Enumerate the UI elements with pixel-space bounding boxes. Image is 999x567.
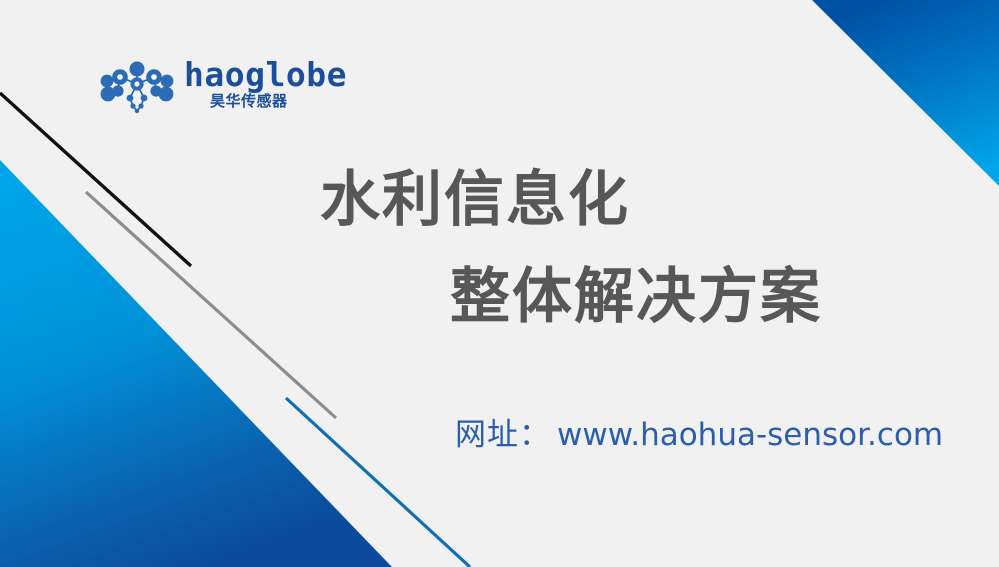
slide-title: 水利信息化 整体解决方案 <box>0 160 999 350</box>
accent-line-blue <box>286 398 470 567</box>
title-line-2: 整体解决方案 <box>450 267 822 327</box>
logo-text-group: haoglobe 昊华传感器 <box>184 58 324 118</box>
molecule-network-icon <box>96 60 178 116</box>
website-url[interactable]: www.haohua-sensor.com <box>557 417 943 453</box>
logo-chinese-name: 昊华传感器 <box>210 94 288 109</box>
title-line-1: 水利信息化 <box>320 170 630 230</box>
website-label: 网址： <box>455 417 551 453</box>
slide-canvas: haoglobe 昊华传感器 水利信息化 整体解决方案 网址：www.haohu… <box>0 0 999 567</box>
logo-wordmark: haoglobe <box>184 58 347 91</box>
website-line: 网址：www.haohua-sensor.com <box>455 420 943 451</box>
company-logo: haoglobe 昊华传感器 <box>96 58 321 120</box>
corner-triangle-top-right <box>812 0 999 186</box>
